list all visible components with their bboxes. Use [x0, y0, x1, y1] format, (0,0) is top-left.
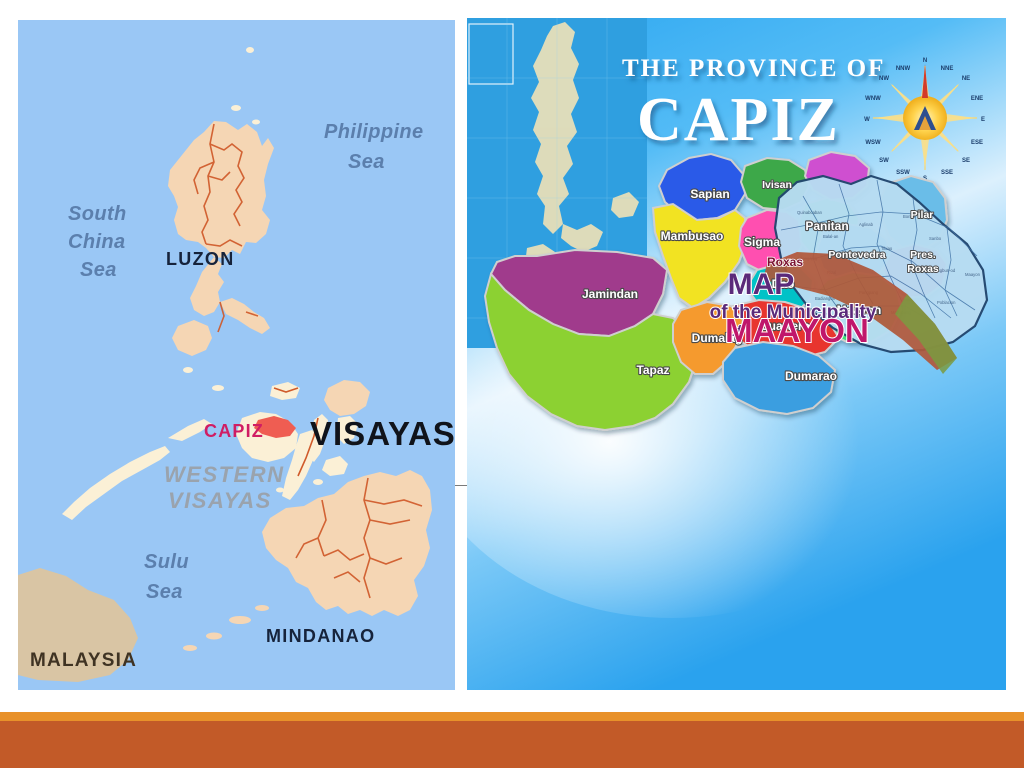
label-western-visayas-1: WESTERN: [164, 462, 285, 487]
label-sulu-sea-1: Sulu: [144, 551, 189, 573]
label-visayas: VISAYAS: [310, 415, 455, 452]
compass-ene: ENE: [971, 96, 983, 102]
label-sulu-sea-2: Sea: [146, 581, 183, 603]
accent-stripe: [0, 712, 1024, 721]
compass-ne: NE: [962, 76, 970, 82]
svg-text:Balal-an: Balal-an: [823, 234, 839, 239]
overlay-line-map: MAP: [728, 268, 795, 301]
label-ivisan: Ivisan: [762, 179, 792, 191]
compass-n: N: [923, 58, 927, 64]
label-pilar: Pilar: [911, 209, 934, 221]
label-sapian: Sapian: [690, 187, 729, 201]
map-title-line2: CAPIZ: [637, 86, 840, 154]
label-pres-roxas-line2: Roxas: [907, 263, 939, 275]
philippines-map-svg: Philippine Philippine Sea South China Se…: [18, 20, 455, 690]
label-mindanao: MINDANAO: [266, 626, 375, 646]
label-pontevedra: Pontevedra: [828, 249, 885, 261]
label-south-china-sea-3: Sea: [80, 259, 117, 281]
compass-ssw: SSW: [896, 170, 910, 176]
capiz-province-map: S U L U S E A THE PROVINCE OF CAPIZ: [467, 18, 1006, 690]
label-tapaz: Tapaz: [636, 363, 669, 377]
compass-wnw: WNW: [865, 96, 881, 102]
label-philippine-sea-1: Philippine: [324, 121, 424, 143]
svg-text:Agbun-od: Agbun-od: [937, 268, 956, 273]
overlay-line-maayon: MAAYON: [725, 312, 869, 349]
slide-canvas: Philippine Philippine Sea South China Se…: [0, 0, 1024, 768]
label-south-china-sea-1: South: [68, 203, 127, 225]
philippines-locator-map: Philippine Philippine Sea South China Se…: [18, 20, 455, 690]
capiz-map-svg: S U L U S E A THE PROVINCE OF CAPIZ: [467, 18, 1006, 690]
label-roxas-city: Roxas: [767, 255, 803, 269]
label-western-visayas-2: VISAYAS: [168, 488, 272, 513]
compass-se: SE: [962, 158, 970, 164]
label-south-china-sea-2: China: [68, 231, 126, 253]
label-mambusao: Mambusao: [661, 229, 724, 243]
compass-nw: NW: [879, 76, 889, 82]
map-title-line1: THE PROVINCE OF: [622, 55, 885, 82]
label-sigma: Sigma: [744, 235, 780, 249]
compass-sw: SW: [879, 158, 889, 164]
svg-text:Maayon: Maayon: [965, 272, 981, 277]
label-luzon: LUZON: [166, 249, 235, 269]
footer-bar: [0, 721, 1024, 768]
compass-wsw: WSW: [865, 140, 881, 146]
compass-e: E: [981, 117, 985, 123]
label-capiz: CAPIZ: [204, 421, 264, 441]
label-malaysia: MALAYSIA: [30, 650, 137, 671]
svg-text:Quinabcaban: Quinabcaban: [797, 210, 823, 215]
compass-w: W: [864, 117, 870, 123]
compass-ese: ESE: [971, 140, 983, 146]
label-philippine-sea-2: Sea: [348, 151, 385, 173]
svg-text:Poblacion: Poblacion: [937, 300, 956, 305]
compass-nnw: NNW: [896, 66, 911, 72]
svg-text:Aglinab: Aglinab: [859, 222, 874, 227]
label-jamindan: Jamindan: [582, 287, 638, 301]
label-panitan: Panitan: [805, 219, 848, 233]
compass-sse: SSE: [941, 170, 953, 176]
compass-nne: NNE: [941, 66, 954, 72]
label-pres-roxas-line1: Pres.: [910, 249, 936, 261]
label-dumarao: Dumarao: [785, 369, 837, 383]
svg-text:Sanbo: Sanbo: [929, 236, 942, 241]
